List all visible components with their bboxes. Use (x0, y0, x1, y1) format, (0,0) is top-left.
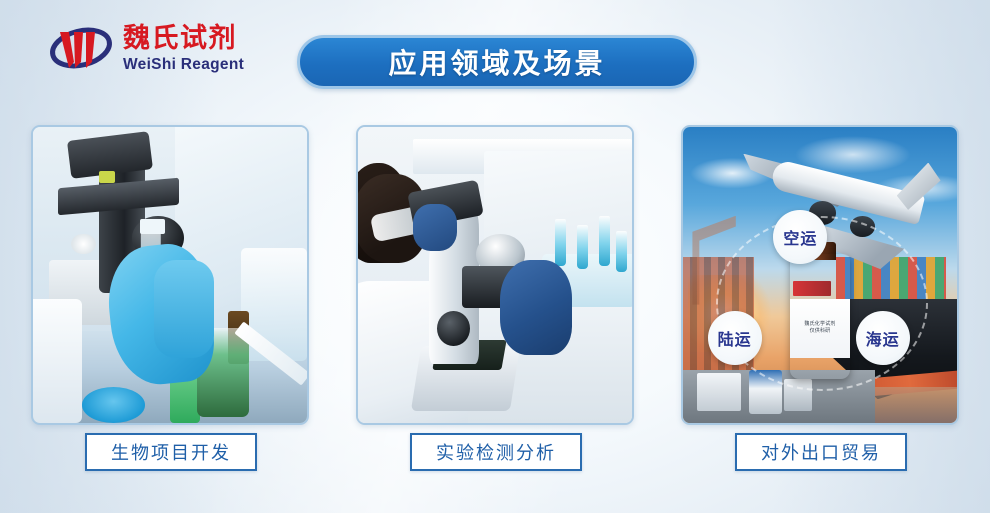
freight-badge-sea: 海运 (856, 311, 910, 365)
photo-microscope-researcher (358, 127, 632, 423)
freight-label-land: 陆运 (718, 326, 752, 350)
photo2-focus-knob (437, 311, 470, 347)
freight-badge-land: 陆运 (708, 311, 762, 365)
page-title: 应用领域及场景 (388, 42, 605, 82)
bottle-label-line1: 魏氏化学试剂 (804, 322, 835, 328)
photo2-test-tube (599, 216, 610, 266)
photo2-glove-right (500, 260, 571, 355)
photo1-microscope-lamp (71, 234, 96, 255)
photo1-flask-cap (140, 219, 165, 234)
card-export-trade[interactable]: 魏氏化学试剂 仅供科研 空运 陆运 海运 (681, 125, 959, 425)
caption-label: 对外出口贸易 (761, 439, 881, 465)
brand-name-cn: 魏氏试剂 (123, 25, 244, 52)
header: 魏氏试剂 WeiShi Reagent 应用领域及场景 (0, 0, 990, 112)
caption-label: 实验检测分析 (436, 439, 556, 465)
freight-label-sea: 海运 (866, 326, 900, 350)
photo3-bottle-brand-mark (793, 281, 831, 296)
cards-row: 魏氏化学试剂 仅供科研 空运 陆运 海运 (0, 125, 990, 435)
brand-text: 魏氏试剂 WeiShi Reagent (123, 25, 244, 73)
page-title-banner: 应用领域及场景 (297, 35, 697, 89)
photo2-test-tube (555, 219, 566, 266)
slide-root: 魏氏试剂 WeiShi Reagent 应用领域及场景 (0, 0, 990, 513)
photo1-glove-fingers (154, 260, 214, 358)
caption-lab-testing-analysis[interactable]: 实验检测分析 (410, 433, 582, 471)
bottle-label-line2: 仅供科研 (810, 329, 831, 335)
caption-export-trade[interactable]: 对外出口贸易 (735, 433, 907, 471)
photo1-specimen (99, 171, 115, 183)
caption-label: 生物项目开发 (111, 439, 231, 465)
photo1-microscope-stage (58, 178, 179, 215)
photo2-test-tube (577, 225, 588, 269)
caption-bio-project-development[interactable]: 生物项目开发 (85, 433, 257, 471)
photo1-petri-dish (82, 387, 145, 423)
card-lab-testing-analysis[interactable] (356, 125, 634, 425)
photo2-glove-left (413, 204, 457, 251)
freight-badge-air: 空运 (773, 210, 827, 264)
photo-lab-flask (33, 127, 307, 423)
photo3-truck (697, 373, 741, 411)
brand-logo: 魏氏试剂 WeiShi Reagent (48, 22, 244, 76)
brand-name-en: WeiShi Reagent (123, 57, 244, 73)
weishi-w-logo-icon (48, 22, 114, 76)
photo3-bottle-label: 魏氏化学试剂 仅供科研 (790, 299, 850, 358)
photo-logistics: 魏氏化学试剂 仅供科研 空运 陆运 海运 (683, 127, 957, 423)
photo2-test-tube (616, 231, 627, 272)
card-bio-project-development[interactable] (31, 125, 309, 425)
freight-label-air: 空运 (783, 225, 817, 249)
